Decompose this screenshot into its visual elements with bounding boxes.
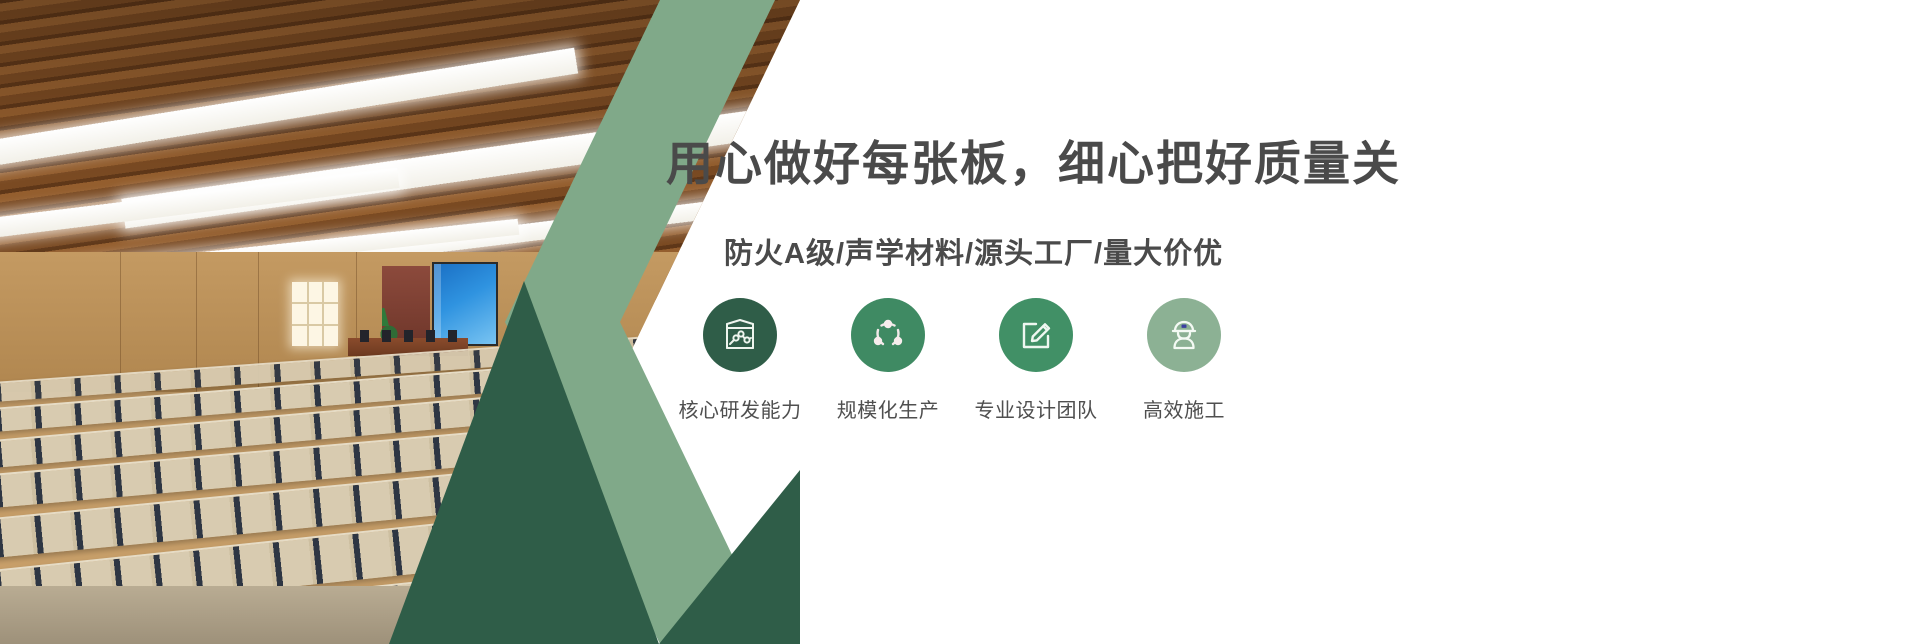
pencil-edit-icon: [1016, 315, 1056, 355]
feature-item-production[interactable]: 规模化生产: [814, 298, 962, 423]
feature-icon-circle: [1147, 298, 1221, 372]
hero-banner: 用心做好每张板，细心把好质量关 防火A级/声学材料/源头工厂/量大价优: [0, 0, 1920, 644]
banner-content: 用心做好每张板，细心把好质量关 防火A级/声学材料/源头工厂/量大价优: [0, 0, 1920, 644]
feature-label: 专业设计团队: [975, 394, 1098, 423]
feature-label: 规模化生产: [837, 394, 940, 423]
rnd-box-chart-icon: [720, 315, 760, 355]
feature-icon-circle: [703, 298, 777, 372]
feature-list: 核心研发能力 规模化生产: [666, 298, 1258, 423]
feature-icon-circle: [999, 298, 1073, 372]
hard-hat-worker-icon: [1164, 315, 1204, 355]
feature-label: 核心研发能力: [679, 394, 802, 423]
feature-label: 高效施工: [1143, 394, 1225, 423]
banner-headline: 用心做好每张板，细心把好质量关: [666, 125, 1401, 194]
feature-icon-circle: [851, 298, 925, 372]
banner-subheadline: 防火A级/声学材料/源头工厂/量大价优: [724, 230, 1223, 272]
feature-item-design[interactable]: 专业设计团队: [962, 298, 1110, 423]
network-nodes-icon: [868, 315, 908, 355]
feature-item-installation[interactable]: 高效施工: [1110, 298, 1258, 423]
feature-item-rnd[interactable]: 核心研发能力: [666, 298, 814, 423]
